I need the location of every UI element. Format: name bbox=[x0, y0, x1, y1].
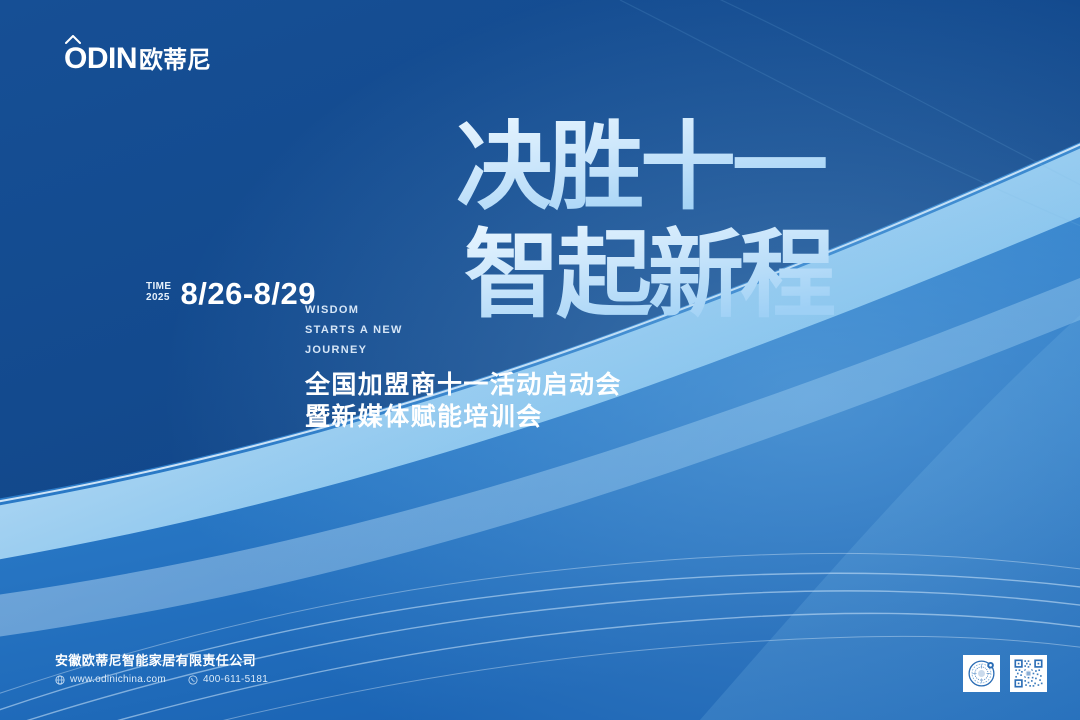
footer: 安徽欧蒂尼智能家居有限责任公司 www.odinichina.com 400-6… bbox=[55, 652, 268, 685]
headline-line-1: 决胜十一 bbox=[456, 118, 826, 221]
phone-text: 400-611-5181 bbox=[203, 674, 268, 685]
tagline-line-1: WISDOM bbox=[305, 300, 403, 320]
brand-logo-chinese: 欧蒂尼 bbox=[139, 49, 211, 74]
event-date-label-year: 2025 bbox=[146, 293, 172, 304]
event-date-range: 8/26-8/29 bbox=[181, 278, 317, 309]
tagline-line-2: STARTS A NEW bbox=[305, 320, 403, 340]
globe-icon bbox=[55, 675, 65, 685]
qr-code-group bbox=[963, 655, 1047, 692]
event-date: TIME 2025 8/26-8/29 bbox=[146, 278, 316, 309]
phone-contact: 400-611-5181 bbox=[188, 674, 268, 685]
subtitle-line-2: 暨新媒体赋能培训会 bbox=[305, 401, 622, 433]
tagline-line-3: JOURNEY bbox=[305, 340, 403, 360]
website-contact: www.odinichina.com bbox=[55, 674, 166, 685]
contact-row: www.odinichina.com 400-611-5181 bbox=[55, 674, 268, 685]
website-text: www.odinichina.com bbox=[70, 674, 166, 685]
headline-calligraphy: 决胜十一 智起新程 bbox=[450, 118, 910, 338]
company-name: 安徽欧蒂尼智能家居有限责任公司 bbox=[55, 652, 268, 670]
wechat-official-account-qr[interactable] bbox=[963, 655, 1000, 692]
brand-logo: ODIN 欧蒂尼 bbox=[64, 44, 211, 74]
background-wave-graphics bbox=[0, 0, 1080, 720]
brand-logo-latin: ODIN bbox=[64, 42, 137, 75]
wechat-mini-program-qr[interactable] bbox=[1010, 655, 1047, 692]
square-qr-code-icon bbox=[1012, 657, 1045, 690]
circular-qr-badge-icon bbox=[965, 657, 998, 690]
event-date-label: TIME 2025 bbox=[146, 282, 172, 305]
event-subtitle: 全国加盟商十一活动启动会 暨新媒体赋能培训会 bbox=[305, 369, 622, 433]
brand-logo-mark: ODIN bbox=[64, 44, 137, 74]
english-tagline: WISDOM STARTS A NEW JOURNEY bbox=[305, 300, 403, 360]
phone-icon bbox=[188, 675, 198, 685]
headline-line-2: 智起新程 bbox=[464, 222, 834, 329]
headline-art: 决胜十一 智起新程 bbox=[450, 118, 910, 338]
event-date-label-time: TIME bbox=[146, 282, 172, 293]
event-poster: ODIN 欧蒂尼 决胜十一 智起新程 TIME 2025 8/26-8/29 W… bbox=[0, 0, 1080, 720]
subtitle-line-1: 全国加盟商十一活动启动会 bbox=[305, 369, 622, 401]
